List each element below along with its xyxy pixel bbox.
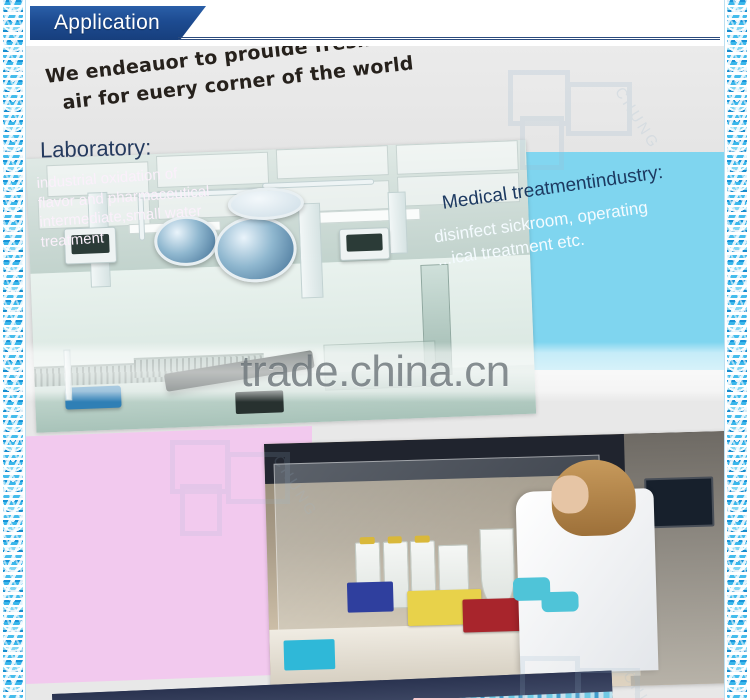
lab-round-flask bbox=[479, 528, 515, 607]
or-table-base bbox=[235, 390, 284, 414]
or-counter bbox=[323, 341, 437, 391]
border-inner-line-right bbox=[724, 0, 725, 700]
slide-body: We endeauor to prouide fresher air for e… bbox=[26, 46, 724, 700]
or-ceiling-column-mid bbox=[298, 203, 324, 299]
ornament-pattern-right bbox=[727, 0, 747, 700]
slide-header: Application bbox=[26, 0, 724, 46]
ornamental-border-left bbox=[0, 0, 26, 700]
company-slogan: We endeauor to prouide fresher air for e… bbox=[44, 46, 468, 119]
or-ceiling-column-right bbox=[388, 191, 408, 254]
or-equipment-cart bbox=[65, 386, 122, 410]
lab-glove-box bbox=[283, 639, 335, 671]
lab-computer-monitor bbox=[645, 477, 715, 528]
lab-technician-face bbox=[551, 475, 589, 514]
slide-content: Application We endeauor to prouide fresh… bbox=[26, 0, 724, 700]
lab-rack-blue bbox=[346, 582, 393, 614]
lab-glove-right bbox=[541, 592, 579, 613]
lab-rack-red bbox=[462, 598, 523, 632]
laboratory-photo bbox=[264, 431, 724, 696]
ornamental-border-right bbox=[724, 0, 750, 700]
border-inner-line-left bbox=[25, 0, 26, 700]
or-monitor-right bbox=[339, 227, 390, 261]
laboratory-panel-title: Laboratory: bbox=[40, 135, 152, 164]
ornament-pattern-left bbox=[3, 0, 23, 700]
slide-page: Application We endeauor to prouide fresh… bbox=[0, 0, 750, 700]
header-rule bbox=[178, 37, 720, 40]
banner-title: Application bbox=[54, 11, 160, 35]
